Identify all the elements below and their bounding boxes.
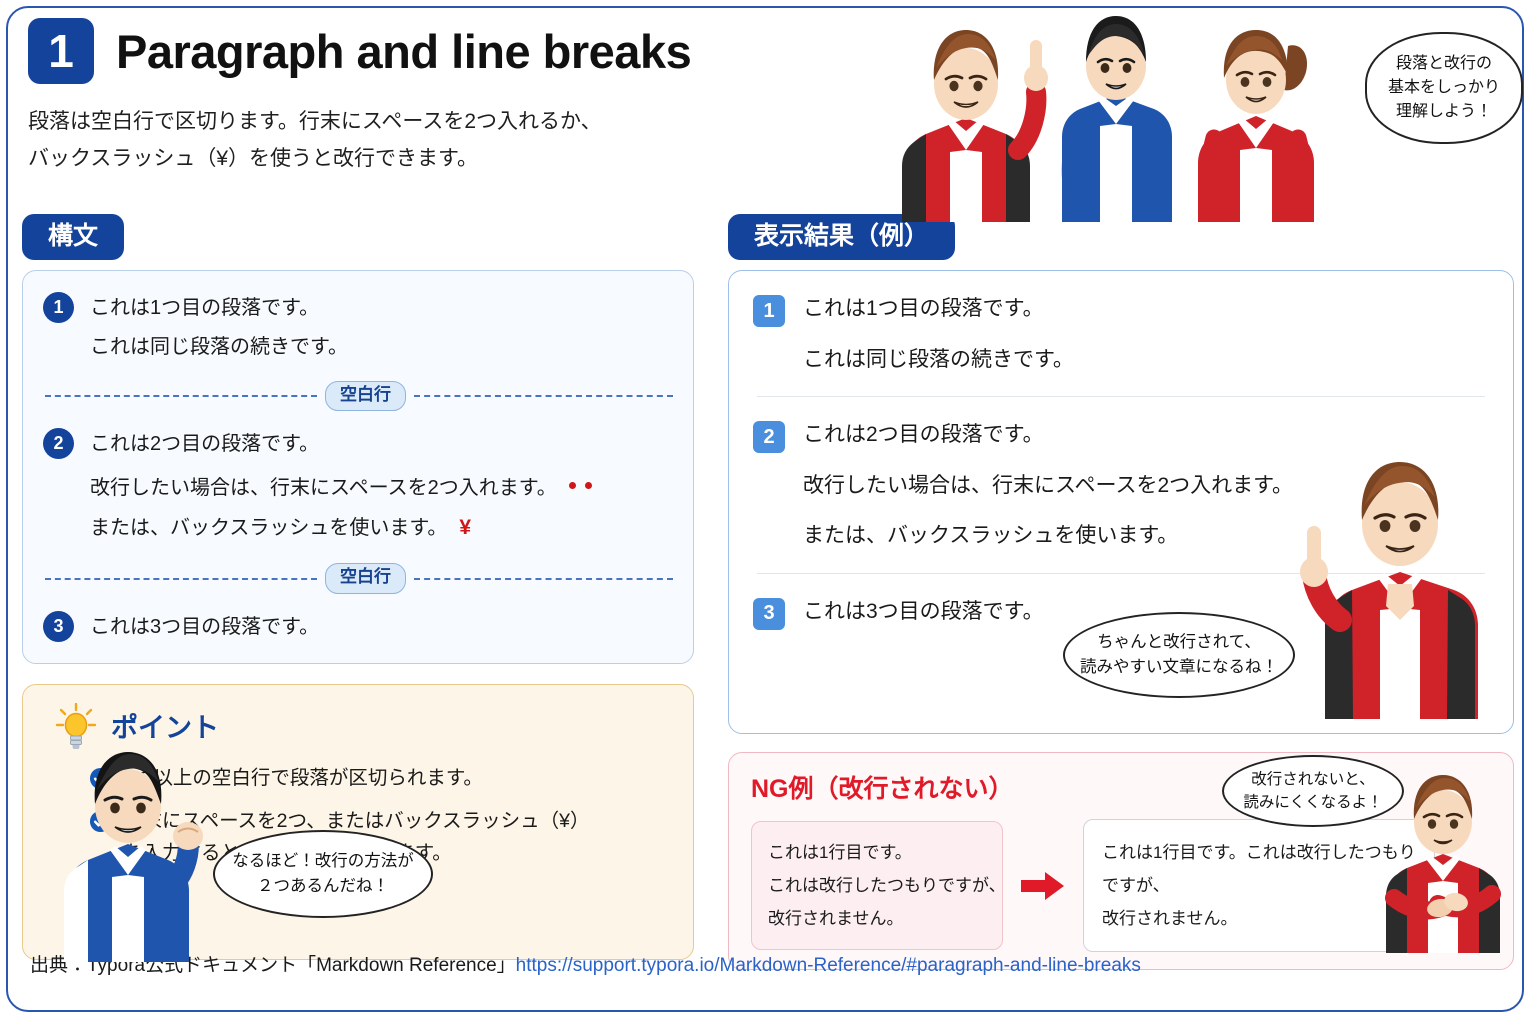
result-paragraph: これは同じ段落の続きです。 <box>803 344 1074 377</box>
result-badge-1: 1 <box>753 295 785 327</box>
speech-bubble-result-text: ちゃんと改行されて、 読みやすい文章になるね！ <box>1074 630 1284 680</box>
divider-dash-left <box>45 578 317 580</box>
syntax-line: これは1つ目の段落です。 <box>90 289 348 328</box>
page-header: 1 Paragraph and line breaks 段落は空白行で区切ります… <box>28 18 888 198</box>
lead-line-2: バックスラッシュ（¥）を使うと改行できます。 <box>28 141 888 178</box>
character-group-top <box>866 0 1366 222</box>
divider-dash-left <box>45 395 317 397</box>
section-number-badge: 1 <box>28 18 94 84</box>
syntax-lines-2: これは2つ目の段落です。 改行したい場合は、行末にスペースを2つ入れます。 また… <box>90 425 601 549</box>
blank-line-divider-1: 空白行 <box>45 381 673 411</box>
bubble-line: 改行されないと、 <box>1243 768 1382 791</box>
divider-dash-right <box>414 578 673 580</box>
speech-bubble-point: なるほど！改行の方法が ２つあるんだね！ <box>213 830 433 918</box>
syntax-line: これは3つ目の段落です。 <box>90 608 319 647</box>
divider-dash-right <box>414 395 673 397</box>
syntax-line-with-backslash-marker: または、バックスラッシュを使います。¥ <box>90 508 601 549</box>
result-lines-3: これは3つ目の段落です。 <box>803 596 1044 629</box>
ng-source-line: 改行されません。 <box>768 902 986 935</box>
syntax-item-2: 2 これは2つ目の段落です。 改行したい場合は、行末にスペースを2つ入れます。 … <box>43 425 673 549</box>
lightbulb-icon <box>55 703 97 749</box>
syntax-badge-1: 1 <box>43 292 74 323</box>
bubble-line: 理解しよう！ <box>1388 100 1500 124</box>
syntax-line: これは2つ目の段落です。 <box>90 425 601 464</box>
bubble-line: なるほど！改行の方法が <box>232 849 414 874</box>
bubble-line: 基本をしっかり <box>1388 76 1500 100</box>
syntax-badge-2: 2 <box>43 428 74 459</box>
trailing-space-dots-icon <box>569 464 601 503</box>
syntax-panel: 1 これは1つ目の段落です。 これは同じ段落の続きです。 空白行 2 これは2つ… <box>22 270 694 664</box>
speech-bubble-ng-text: 改行されないと、 読みにくくなるよ！ <box>1237 768 1388 815</box>
character-result-boy <box>1300 444 1515 719</box>
result-paragraph: または、バックスラッシュを使います。 <box>803 520 1293 553</box>
blank-line-chip: 空白行 <box>325 563 406 593</box>
speech-bubble-point-text: なるほど！改行の方法が ２つあるんだね！ <box>226 849 420 899</box>
point-header: ポイント <box>55 703 671 749</box>
character-point-boy <box>40 744 220 962</box>
syntax-item-3: 3 これは3つ目の段落です。 <box>43 608 673 647</box>
blank-line-divider-2: 空白行 <box>45 563 673 593</box>
ng-source-line: これは1行目です。 <box>768 836 986 869</box>
point-title: ポイント <box>111 706 219 745</box>
result-lines-2: これは2つ目の段落です。 改行したい場合は、行末にスペースを2つ入れます。 また… <box>803 419 1293 553</box>
syntax-line-text: 改行したい場合は、行末にスペースを2つ入れます。 <box>90 477 557 499</box>
syntax-item-1: 1 これは1つ目の段落です。 これは同じ段落の続きです。 <box>43 289 673 367</box>
result-paragraph: 改行したい場合は、行末にスペースを2つ入れます。 <box>803 470 1293 503</box>
yen-backslash-icon: ¥ <box>459 516 471 539</box>
right-arrow-icon <box>1021 871 1065 901</box>
bubble-line: ちゃんと改行されて、 <box>1080 630 1278 655</box>
syntax-line: これは同じ段落の続きです。 <box>90 328 348 367</box>
syntax-lines-3: これは3つ目の段落です。 <box>90 608 319 647</box>
lead-line-1: 段落は空白行で区切ります。行末にスペースを2つ入れるか、 <box>28 104 888 141</box>
result-paragraph: これは3つ目の段落です。 <box>803 596 1044 629</box>
syntax-line-with-space-marker: 改行したい場合は、行末にスペースを2つ入れます。 <box>90 464 601 508</box>
header-row: 1 Paragraph and line breaks <box>28 18 888 84</box>
speech-bubble-result: ちゃんと改行されて、 読みやすい文章になるね！ <box>1063 612 1295 698</box>
lead-paragraph: 段落は空白行で区切ります。行末にスペースを2つ入れるか、 バックスラッシュ（¥）… <box>28 104 888 178</box>
bubble-line: ２つあるんだね！ <box>232 874 414 899</box>
speech-bubble-top-right-text: 段落と改行の 基本をしっかり 理解しよう！ <box>1382 52 1506 124</box>
ng-source-code: これは1行目です。 これは改行したつもりですが、 改行されません。 <box>751 821 1003 950</box>
result-badge-2: 2 <box>753 421 785 453</box>
result-divider <box>757 396 1485 397</box>
ng-source-line: これは改行したつもりですが、 <box>768 869 986 902</box>
syntax-line-text: または、バックスラッシュを使います。 <box>90 517 447 539</box>
syntax-badge-3: 3 <box>43 611 74 642</box>
result-paragraph: これは2つ目の段落です。 <box>803 419 1293 452</box>
speech-bubble-ng: 改行されないと、 読みにくくなるよ！ <box>1222 755 1404 827</box>
page-title: Paragraph and line breaks <box>116 24 691 79</box>
footer-url-link[interactable]: https://support.typora.io/Markdown-Refer… <box>516 955 1141 976</box>
bubble-line: 読みやすい文章になるね！ <box>1080 655 1278 680</box>
syntax-section-label: 構文 <box>22 214 124 260</box>
bubble-line: 読みにくくなるよ！ <box>1243 791 1382 814</box>
result-badge-3: 3 <box>753 598 785 630</box>
result-item-1: 1 これは1つ目の段落です。 これは同じ段落の続きです。 <box>753 293 1489 376</box>
result-paragraph: これは1つ目の段落です。 <box>803 293 1074 326</box>
speech-bubble-top-right: 段落と改行の 基本をしっかり 理解しよう！ <box>1365 32 1523 144</box>
blank-line-chip: 空白行 <box>325 381 406 411</box>
syntax-lines-1: これは1つ目の段落です。 これは同じ段落の続きです。 <box>90 289 348 367</box>
result-lines-1: これは1つ目の段落です。 これは同じ段落の続きです。 <box>803 293 1074 376</box>
bubble-line: 段落と改行の <box>1388 52 1500 76</box>
